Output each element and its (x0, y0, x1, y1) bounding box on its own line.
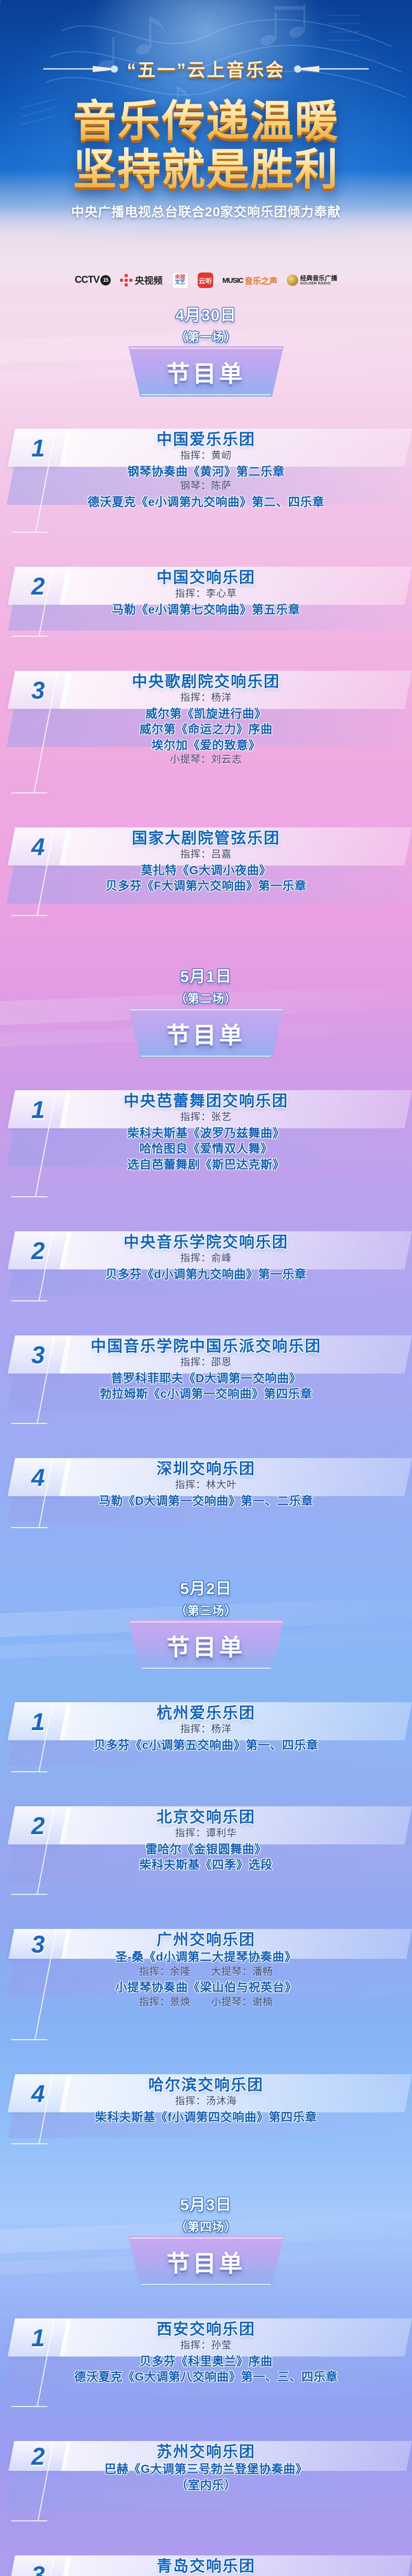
work-title: 普罗科菲耶夫《D大调第一交响曲》 (0, 1370, 412, 1386)
item-bracket-foot (11, 792, 47, 793)
item-bracket-foot (11, 1771, 47, 1772)
day-header: 5月3日（第四场） (0, 2192, 412, 2234)
day-header: 5月1日（第二场） (0, 963, 412, 1006)
program-item: 3广州交响乐团圣-桑《d小调第二大提琴协奏曲》指挥：余隆 大提琴：潘畅小提琴协奏… (0, 1929, 412, 2043)
conductor-name: 指挥：吕嘉 (0, 848, 412, 862)
item-bracket-foot (11, 1423, 47, 1424)
item-bracket-foot (11, 1527, 47, 1528)
item-bracket-foot (11, 2406, 47, 2407)
golden-radio-en: GOLDEN RADIO (300, 282, 337, 285)
program-item: 3中国音乐学院中国乐派交响乐团指挥：邵恩普罗科菲耶夫《D大调第一交响曲》勃拉姆斯… (0, 1335, 412, 1427)
work-title: 雷哈尔《金银圆舞曲》 (0, 1841, 412, 1857)
performer-credit: 指挥：景焕 小提琴：谢楠 (0, 1995, 412, 2010)
cctv15-logo-badge: 15 (100, 275, 111, 285)
orchestra-name: 中央音乐学院交响乐团 (0, 1233, 412, 1251)
kicker-text: “五一”云上音乐会 (127, 56, 285, 82)
orchestra-name: 中央歌剧院交响乐团 (0, 673, 412, 691)
day-round: （第四场） (0, 2217, 412, 2234)
program-item: 3中央歌剧院交响乐团指挥：杨洋威尔第《凯旋进行曲》威尔第《命运之力》序曲埃尔加《… (0, 671, 412, 796)
work-title: 贝多芬《F大调第六交响曲》第一乐章 (0, 878, 412, 893)
item-bracket-foot (11, 1300, 47, 1301)
item-bracket-foot (11, 2039, 47, 2040)
item-body: 中国交响乐团指挥：李心草马勒《e小调第七交响曲》第五乐章 (0, 569, 412, 617)
item-body: 中央音乐学院交响乐团指挥：俞峰贝多芬《d小调第九交响曲》第一乐章 (0, 1233, 412, 1282)
conductor-name: 指挥：李心草 (0, 587, 412, 602)
orchestra-name: 苏州交响乐团 (0, 2443, 412, 2461)
conductor-name: 指挥：杨洋 (0, 691, 412, 706)
work-title: 柴科夫斯基《f小调第四交响曲》第四乐章 (0, 2109, 412, 2125)
ribbon-label: 节目单 (122, 346, 290, 397)
golden-radio-disc-icon (287, 275, 298, 286)
day-round: （第三场） (0, 1601, 412, 1618)
subtitle: 中央广播电视总台联合20家交响乐团倾力奉献 (0, 202, 412, 221)
work-title: 威尔第《凯旋进行曲》 (0, 706, 412, 721)
performer-credit: 指挥：余隆 大提琴：潘畅 (0, 1965, 412, 1980)
item-bracket-foot (11, 636, 47, 637)
work-title: 德沃夏克《e小调第九交响曲》第二、四乐章 (0, 494, 412, 510)
yangshipin-mark-icon (120, 274, 132, 286)
item-body: 国家大剧院管弦乐团指挥：吕嘉莫扎特《G大调小夜曲》贝多芬《F大调第六交响曲》第一… (0, 829, 412, 894)
yangshi-wenyi-logo: 央视 文艺 (172, 272, 188, 289)
orchestra-name: 中国爱乐乐团 (0, 431, 412, 449)
yangshi-wenyi-line2: 文艺 (175, 280, 185, 285)
program-list-ribbon: 节目单 (122, 2236, 290, 2286)
work-title: 柴科夫斯基《波罗乃兹舞曲》 (0, 1125, 412, 1141)
program-item: 4哈尔滨交响乐团指挥：汤沐海柴科夫斯基《f小调第四交响曲》第四乐章 (0, 2074, 412, 2147)
conductor-name: 指挥：邵恩 (0, 1355, 412, 1370)
work-title: 巴赫《G大调第三号勃兰登堡协奏曲》 (0, 2461, 412, 2477)
baton-left-icon (43, 63, 122, 75)
item-bracket-foot (11, 2520, 47, 2521)
orchestra-name: 中国音乐学院中国乐派交响乐团 (0, 1337, 412, 1355)
work-title: 哈恰图良《爱情双人舞》 (0, 1141, 412, 1156)
orchestra-name: 深圳交响乐团 (0, 1460, 412, 1478)
item-body: 中央歌剧院交响乐团指挥：杨洋威尔第《凯旋进行曲》威尔第《命运之力》序曲埃尔加《爱… (0, 673, 412, 767)
item-body: 中国音乐学院中国乐派交响乐团指挥：邵恩普罗科菲耶夫《D大调第一交响曲》勃拉姆斯《… (0, 1337, 412, 1402)
work-title: 勃拉姆斯《c小调第一交响曲》第四乐章 (0, 1386, 412, 1401)
orchestra-name: 青岛交响乐团 (0, 2557, 412, 2575)
program-item: 1西安交响乐团指挥：孙莹贝多芬《科里奥兰》序曲德沃夏克《G大调第八交响曲》第一、… (0, 2318, 412, 2410)
golden-radio-cn: 经典音乐广播 (300, 275, 337, 282)
program-item: 3青岛交响乐团指挥：拓鹏斯特拉文斯基《火鸟组曲》王酷《海霞组曲》（织网、丰收） (0, 2555, 412, 2576)
day-date: 5月2日 (0, 1575, 412, 1599)
item-body: 广州交响乐团圣-桑《d小调第二大提琴协奏曲》指挥：余隆 大提琴：潘畅小提琴协奏曲… (0, 1931, 412, 2010)
orchestra-name: 哈尔滨交响乐团 (0, 2076, 412, 2094)
orchestra-name: 中国交响乐团 (0, 569, 412, 587)
item-body: 哈尔滨交响乐团指挥：汤沐海柴科夫斯基《f小调第四交响曲》第四乐章 (0, 2076, 412, 2125)
program-item: 1中央芭蕾舞团交响乐团指挥：张艺柴科夫斯基《波罗乃兹舞曲》哈恰图良《爱情双人舞》… (0, 1090, 412, 1200)
day-round: （第二场） (0, 989, 412, 1006)
orchestra-name: 广州交响乐团 (0, 1931, 412, 1949)
program-list-ribbon: 节目单 (122, 1008, 290, 1058)
conductor-name: 指挥：张艺 (0, 1110, 412, 1125)
work-title: 小提琴协奏曲《梁山伯与祝英台》 (0, 1979, 412, 1995)
ribbon-label: 节目单 (122, 2236, 290, 2286)
item-body: 青岛交响乐团指挥：拓鹏斯特拉文斯基《火鸟组曲》王酷《海霞组曲》（织网、丰收） (0, 2557, 412, 2576)
kicker-row: “五一”云上音乐会 (0, 56, 412, 82)
day-date: 5月3日 (0, 2192, 412, 2215)
work-title: 柴科夫斯基《四季》选段 (0, 1857, 412, 1872)
work-title: （室内乐） (0, 2477, 412, 2493)
orchestra-name: 杭州爱乐乐团 (0, 1704, 412, 1722)
conductor-name: 指挥：孙莹 (0, 2338, 412, 2353)
day-date: 4月30日 (0, 302, 412, 325)
ribbon-label: 节目单 (122, 1620, 290, 1670)
yangshipin-logo: 央视频 (120, 273, 163, 288)
work-title: 贝多芬《d小调第九交响曲》第一乐章 (0, 1266, 412, 1282)
program-item: 4国家大剧院管弦乐团指挥：吕嘉莫扎特《G大调小夜曲》贝多芬《F大调第六交响曲》第… (0, 827, 412, 919)
conductor-name: 指挥：林大叶 (0, 1478, 412, 1493)
work-title: 马勒《e小调第七交响曲》第五乐章 (0, 602, 412, 617)
program-item: 2北京交响乐团指挥：谭利华雷哈尔《金银圆舞曲》柴科夫斯基《四季》选段 (0, 1806, 412, 1898)
item-body: 北京交响乐团指挥：谭利华雷哈尔《金银圆舞曲》柴科夫斯基《四季》选段 (0, 1808, 412, 1873)
conductor-name: 指挥：黄屻 (0, 449, 412, 464)
item-body: 深圳交响乐团指挥：林大叶马勒《D大调第一交响曲》第一、二乐章 (0, 1460, 412, 1509)
yunting-logo: 云听 (198, 273, 213, 288)
work-title: 埃尔加《爱的致意》 (0, 737, 412, 753)
item-bracket-foot (11, 915, 47, 916)
work-title: 贝多芬《c小调第五交响曲》第一、四乐章 (0, 1737, 412, 1753)
music-radio-en: MUSIC (222, 276, 243, 284)
cctv15-logo: CCTV 15 (75, 273, 111, 288)
program-item: 4深圳交响乐团指挥：林大叶马勒《D大调第一交响曲》第一、二乐章 (0, 1458, 412, 1531)
item-bracket-foot (11, 1196, 47, 1197)
work-title: 钢琴协奏曲《黄河》第二乐章 (0, 464, 412, 479)
day-header: 5月2日（第三场） (0, 1575, 412, 1618)
baton-right-icon (290, 63, 369, 75)
work-title: 德沃夏克《G大调第八交响曲》第一、三、四乐章 (0, 2369, 412, 2384)
title-line-2: 坚持就是胜利 (0, 135, 412, 197)
program-item: 2中央音乐学院交响乐团指挥：俞峰贝多芬《d小调第九交响曲》第一乐章 (0, 1231, 412, 1304)
conductor-name: 指挥：俞峰 (0, 1251, 412, 1266)
ribbon-label: 节目单 (122, 1008, 290, 1058)
conductor-name: 指挥：汤沐海 (0, 2094, 412, 2109)
program-item: 1杭州爱乐乐团指挥：杨洋贝多芬《c小调第五交响曲》第一、四乐章 (0, 1702, 412, 1775)
logo-row-top: CCTV 15 央视频 央视 文艺 云听 MUSIC 音乐之声 经典音乐广播 (0, 272, 412, 289)
day-date: 5月1日 (0, 963, 412, 987)
golden-radio-logo: 经典音乐广播 GOLDEN RADIO (287, 273, 337, 288)
music-radio-cn: 音乐之声 (245, 274, 278, 286)
orchestra-name: 西安交响乐团 (0, 2320, 412, 2338)
program-item: 2苏州交响乐团巴赫《G大调第三号勃兰登堡协奏曲》（室内乐） (0, 2441, 412, 2524)
item-bracket-foot (11, 2143, 47, 2144)
program-item: 2中国交响乐团指挥：李心草马勒《e小调第七交响曲》第五乐章 (0, 567, 412, 640)
item-bracket-foot (11, 532, 47, 533)
cctv15-logo-text: CCTV (75, 275, 99, 286)
conductor-name: 指挥：谭利华 (0, 1826, 412, 1841)
work-title: 威尔第《命运之力》序曲 (0, 721, 412, 737)
conductor-name: 指挥：杨洋 (0, 1722, 412, 1737)
orchestra-name: 中央芭蕾舞团交响乐团 (0, 1092, 412, 1110)
yangshipin-logo-text: 央视频 (135, 274, 163, 287)
day-header: 4月30日（第一场） (0, 302, 412, 345)
performer-credit: 小提琴：刘云志 (0, 753, 412, 768)
work-title: 马勒《D大调第一交响曲》第一、二乐章 (0, 1493, 412, 1509)
orchestra-name: 国家大剧院管弦乐团 (0, 829, 412, 848)
orchestra-name: 北京交响乐团 (0, 1808, 412, 1826)
item-bracket-foot (11, 1894, 47, 1895)
work-title: 选自芭蕾舞剧《斯巴达克斯》 (0, 1157, 412, 1172)
work-title: 贝多芬《科里奥兰》序曲 (0, 2353, 412, 2369)
work-title: 莫扎特《G大调小夜曲》 (0, 862, 412, 878)
item-body: 苏州交响乐团巴赫《G大调第三号勃兰登堡协奏曲》（室内乐） (0, 2443, 412, 2493)
item-body: 中国爱乐乐团指挥：黄屻钢琴协奏曲《黄河》第二乐章钢琴：陈萨德沃夏克《e小调第九交… (0, 431, 412, 510)
program-item: 1中国爱乐乐团指挥：黄屻钢琴协奏曲《黄河》第二乐章钢琴：陈萨德沃夏克《e小调第九… (0, 429, 412, 536)
program-list-ribbon: 节目单 (122, 346, 290, 397)
poster-root: “五一”云上音乐会 音乐传递温暖 坚持就是胜利 中央广播电视总台联合20家交响乐… (0, 0, 412, 2576)
item-body: 西安交响乐团指挥：孙莹贝多芬《科里奥兰》序曲德沃夏克《G大调第八交响曲》第一、三… (0, 2320, 412, 2385)
work-title: 圣-桑《d小调第二大提琴协奏曲》 (0, 1949, 412, 1964)
day-round: （第一场） (0, 327, 412, 345)
item-body: 中央芭蕾舞团交响乐团指挥：张艺柴科夫斯基《波罗乃兹舞曲》哈恰图良《爱情双人舞》选… (0, 1092, 412, 1172)
program-list-ribbon: 节目单 (122, 1620, 290, 1670)
performer-credit: 钢琴：陈萨 (0, 479, 412, 494)
music-radio-logo: MUSIC 音乐之声 (222, 273, 278, 288)
item-body: 杭州爱乐乐团指挥：杨洋贝多芬《c小调第五交响曲》第一、四乐章 (0, 1704, 412, 1753)
